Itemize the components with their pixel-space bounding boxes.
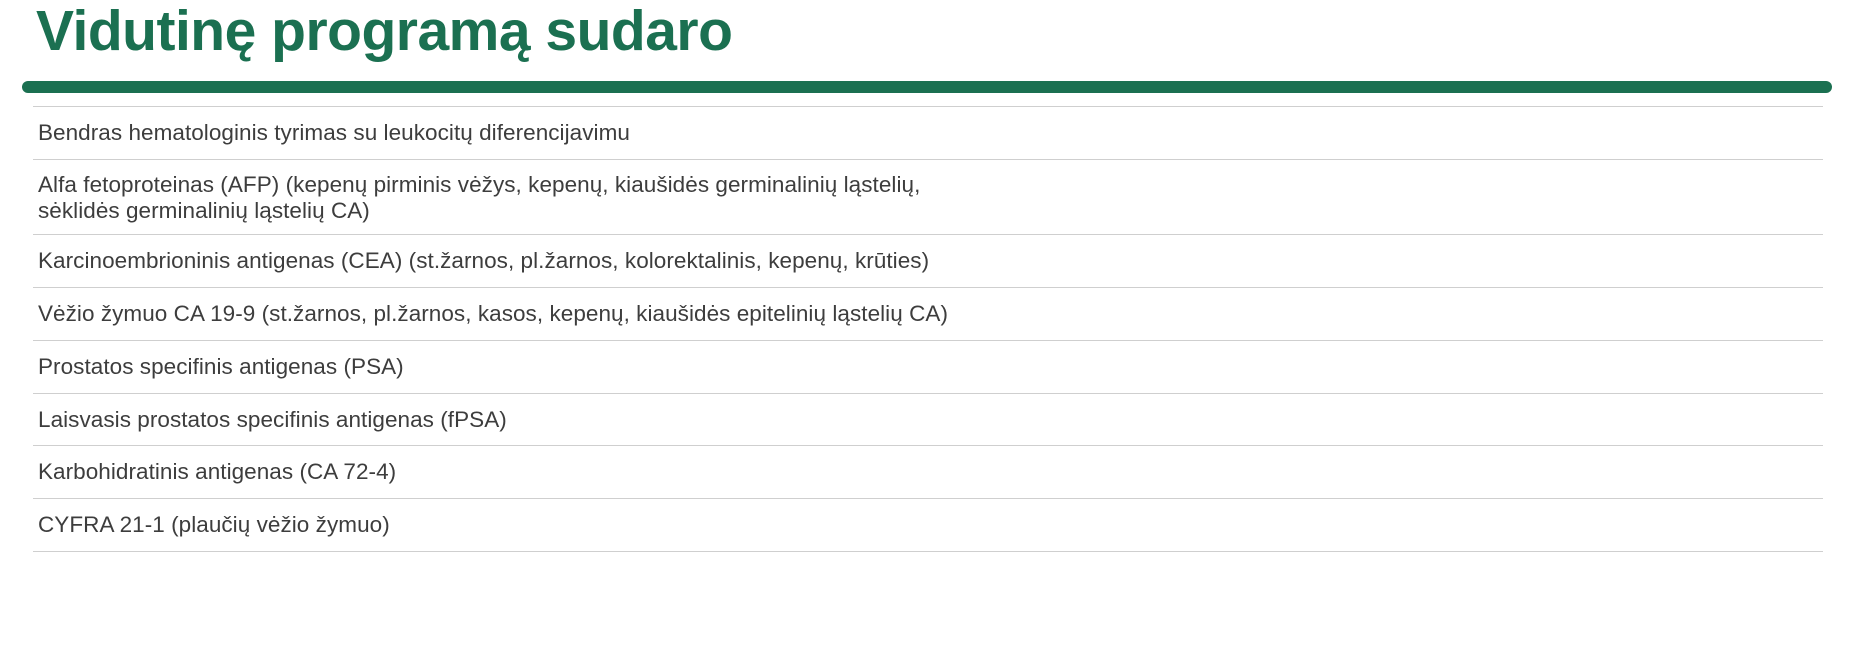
list-item-label: Alfa fetoproteinas (AFP) (kepenų pirmini… bbox=[33, 160, 1823, 234]
page-title: Vidutinę programą sudaro bbox=[36, 0, 732, 65]
list-item-label: CYFRA 21-1 (plaučių vėžio žymuo) bbox=[33, 499, 1823, 551]
list-item-label: Prostatos specifinis antigenas (PSA) bbox=[33, 341, 1823, 393]
test-list: Bendras hematologinis tyrimas su leukoci… bbox=[33, 106, 1823, 552]
title-underline-rule bbox=[22, 81, 1832, 93]
list-item: Prostatos specifinis antigenas (PSA) bbox=[33, 340, 1823, 393]
list-item: Karbohidratinis antigenas (CA 72-4) bbox=[33, 445, 1823, 498]
list-item-label: Laisvasis prostatos specifinis antigenas… bbox=[33, 394, 1823, 446]
list-item: Alfa fetoproteinas (AFP) (kepenų pirmini… bbox=[33, 159, 1823, 234]
list-item: CYFRA 21-1 (plaučių vėžio žymuo) bbox=[33, 498, 1823, 552]
list-item: Karcinoembrioninis antigenas (CEA) (st.ž… bbox=[33, 234, 1823, 287]
list-item-label: Karcinoembrioninis antigenas (CEA) (st.ž… bbox=[33, 235, 1823, 287]
list-item-label: Vėžio žymuo CA 19-9 (st.žarnos, pl.žarno… bbox=[33, 288, 1823, 340]
slide-root: Vidutinę programą sudaro Bendras hematol… bbox=[0, 0, 1862, 670]
list-item: Bendras hematologinis tyrimas su leukoci… bbox=[33, 106, 1823, 159]
list-item: Laisvasis prostatos specifinis antigenas… bbox=[33, 393, 1823, 446]
list-item: Vėžio žymuo CA 19-9 (st.žarnos, pl.žarno… bbox=[33, 287, 1823, 340]
list-item-label: Bendras hematologinis tyrimas su leukoci… bbox=[33, 107, 1823, 159]
list-item-label: Karbohidratinis antigenas (CA 72-4) bbox=[33, 446, 1823, 498]
